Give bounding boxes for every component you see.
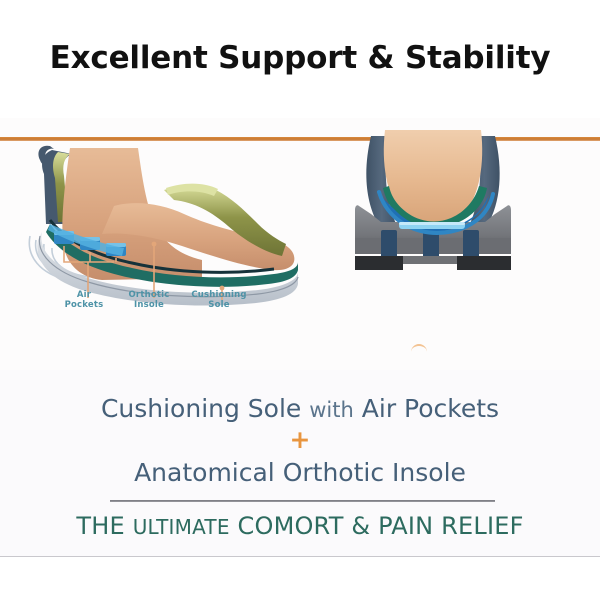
headline-secondary: Anatomical Orthotic Insole	[0, 458, 600, 487]
page-title: Excellent Support & Stability	[0, 40, 600, 76]
callout-cushioning-sole-line1: Cushioning	[191, 290, 246, 300]
side-view-foot-illustration	[6, 128, 316, 308]
plus-symbol: +	[0, 427, 600, 452]
product-feature-graphic: Excellent Support & Stability	[0, 0, 600, 600]
callout-orthotic-insole-line2: Insole	[134, 300, 164, 310]
illustration-band: Air Pockets Orthotic Insole Cushioning S…	[0, 118, 600, 370]
callout-cushioning-sole-line2: Sole	[208, 300, 229, 310]
callout-air-pockets: Air Pockets	[56, 290, 112, 310]
orange-arc-artifact	[411, 344, 427, 354]
tagline: THE ULTIMATE COMORT & PAIN RELIEF	[0, 512, 600, 540]
title-band: Excellent Support & Stability	[0, 0, 600, 118]
headline-part-cushioning-sole: Cushioning Sole	[101, 394, 301, 423]
bottom-white-area	[0, 557, 600, 600]
callout-orthotic-insole-line1: Orthotic	[129, 290, 170, 300]
marketing-copy-band: Cushioning Sole with Air Pockets + Anato…	[0, 370, 600, 557]
tagline-main: COMORT & PAIN RELIEF	[230, 512, 524, 540]
headline-primary: Cushioning Sole with Air Pockets	[0, 394, 600, 423]
tagline-prefix: THE	[76, 512, 132, 540]
copy-divider	[110, 500, 495, 502]
callout-orthotic-insole: Orthotic Insole	[118, 290, 180, 310]
callout-air-pockets-line1: Air	[77, 290, 91, 300]
tagline-ultimate: ULTIMATE	[133, 515, 230, 539]
headline-connector-with: with	[309, 398, 354, 422]
callout-air-pockets-line2: Pockets	[65, 300, 104, 310]
front-view-foot-illustration	[345, 130, 545, 306]
callout-cushioning-sole: Cushioning Sole	[185, 290, 253, 310]
headline-part-air-pockets: Air Pockets	[362, 394, 499, 423]
